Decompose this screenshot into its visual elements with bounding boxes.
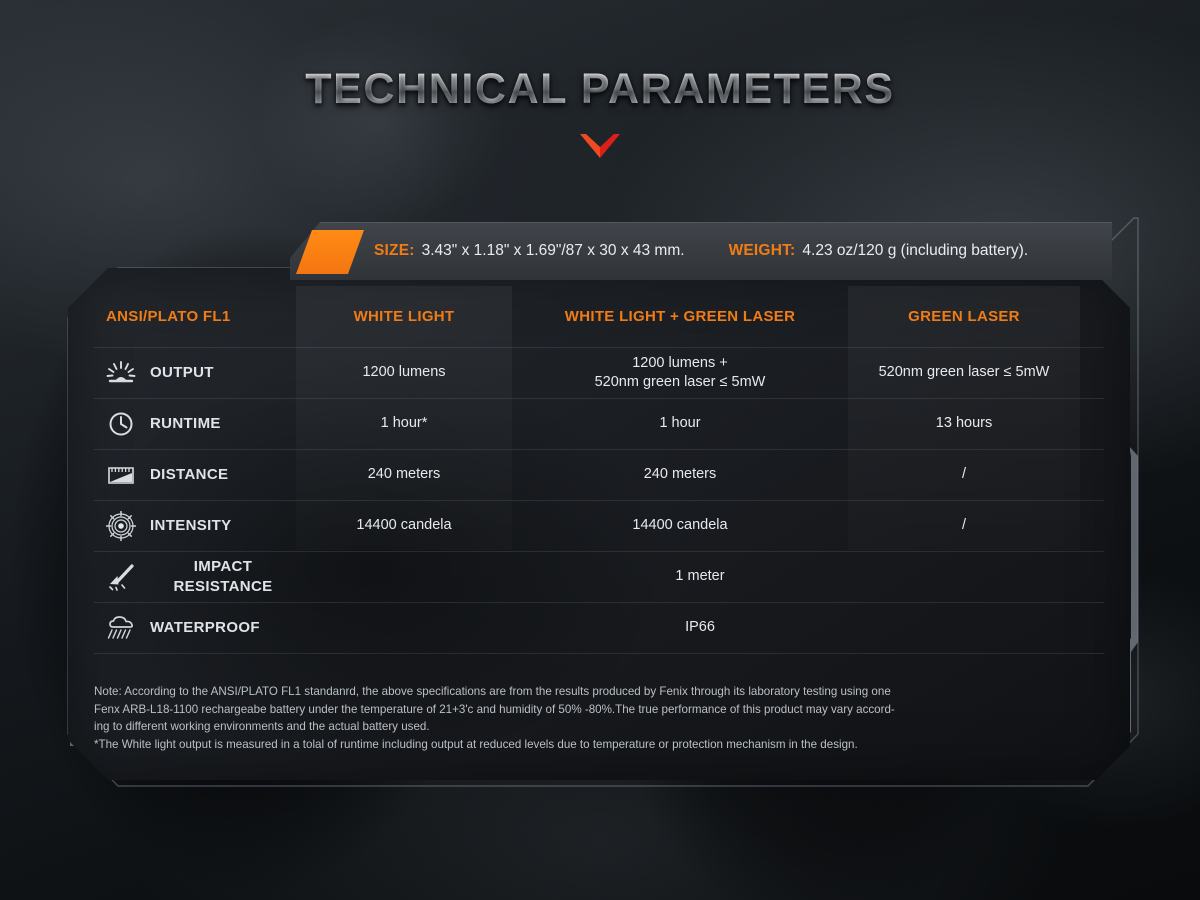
table-header-row: ANSI/PLATO FL1 WHITE LIGHT WHITE LIGHT +… (94, 286, 1104, 348)
table-row: OUTPUT 1200 lumens 1200 lumens + 520nm g… (94, 348, 1104, 399)
beam-distance-icon (98, 458, 144, 492)
size-value: 3.43" x 1.18" x 1.69"/87 x 30 x 43 mm. (422, 242, 685, 259)
cell-impact-resistance-value: 1 meter (296, 552, 1104, 602)
header-white-light: WHITE LIGHT (296, 286, 512, 347)
footnote-line-4: *The White light output is measured in a… (94, 736, 1098, 754)
chevron-down-icon (579, 133, 621, 159)
param-label: WATERPROOF (150, 618, 260, 638)
table-row: RUNTIME 1 hour* 1 hour 13 hours (94, 399, 1104, 450)
header-ansi-plato: ANSI/PLATO FL1 (94, 286, 296, 347)
clock-icon (98, 407, 144, 441)
footnote-line-3: ing to different working environments an… (94, 718, 1098, 736)
cell-output-white-light-green-laser: 1200 lumens + 520nm green laser ≤ 5mW (512, 348, 848, 398)
table-row: WATERPROOF IP66 (94, 603, 1104, 654)
cell-intensity-white-light: 14400 candela (296, 501, 512, 551)
cell-intensity-green-laser: / (848, 501, 1080, 551)
cell-runtime-green-laser: 13 hours (848, 399, 1080, 449)
weight-label: WEIGHT: (729, 242, 796, 259)
size-weight-strip: SIZE:3.43" x 1.18" x 1.69"/87 x 30 x 43 … (290, 222, 1112, 280)
row-label-cell: OUTPUT (94, 348, 296, 398)
weight-value: 4.23 oz/120 g (including battery). (802, 242, 1028, 259)
target-intensity-icon (98, 509, 144, 543)
param-label: IMPACT RESISTANCE (150, 557, 296, 597)
cell-line-2: 520nm green laser ≤ 5mW (595, 373, 766, 392)
cell-distance-white-light: 240 meters (296, 450, 512, 500)
size-label: SIZE: (374, 242, 415, 259)
param-label: RUNTIME (150, 414, 221, 434)
footnote-line-2: Fenx ARB-L18-1100 rechargeabe battery un… (94, 701, 1098, 719)
weight-spec: WEIGHT:4.23 oz/120 g (including battery)… (729, 242, 1029, 260)
spec-strip-text: SIZE:3.43" x 1.18" x 1.69"/87 x 30 x 43 … (374, 222, 1098, 280)
sunburst-icon (98, 356, 144, 390)
specifications-table: ANSI/PLATO FL1 WHITE LIGHT WHITE LIGHT +… (94, 286, 1104, 654)
header-white-light-green-laser: WHITE LIGHT + GREEN LASER (512, 286, 848, 347)
cell-intensity-white-light-green-laser: 14400 candela (512, 501, 848, 551)
param-label: INTENSITY (150, 516, 232, 536)
row-label-cell: IMPACT RESISTANCE (94, 552, 296, 602)
row-label-cell: RUNTIME (94, 399, 296, 449)
size-spec: SIZE:3.43" x 1.18" x 1.69"/87 x 30 x 43 … (374, 242, 685, 260)
param-label: OUTPUT (150, 363, 214, 383)
row-label-cell: DISTANCE (94, 450, 296, 500)
table-row: INTENSITY 14400 candela 14400 candela / (94, 501, 1104, 552)
cell-waterproof-value: IP66 (296, 603, 1104, 653)
title-block: TECHNICAL PARAMETERS (0, 68, 1200, 159)
cell-output-white-light: 1200 lumens (296, 348, 512, 398)
specifications-panel: ANSI/PLATO FL1 WHITE LIGHT WHITE LIGHT +… (68, 268, 1130, 780)
header-green-laser: GREEN LASER (848, 286, 1080, 347)
table-row: DISTANCE 240 meters 240 meters / (94, 450, 1104, 501)
cell-runtime-white-light: 1 hour* (296, 399, 512, 449)
row-label-cell: INTENSITY (94, 501, 296, 551)
impact-resistance-icon (98, 560, 144, 594)
page-title: TECHNICAL PARAMETERS (0, 68, 1200, 111)
row-label-cell: WATERPROOF (94, 603, 296, 653)
param-label: DISTANCE (150, 465, 228, 485)
cell-line-1: 1200 lumens + (595, 354, 766, 373)
footnote-block: Note: According to the ANSI/PLATO FL1 st… (94, 683, 1098, 753)
rain-cloud-icon (98, 611, 144, 645)
cell-distance-green-laser: / (848, 450, 1080, 500)
cell-distance-white-light-green-laser: 240 meters (512, 450, 848, 500)
footnote-line-1: Note: According to the ANSI/PLATO FL1 st… (94, 683, 1098, 701)
table-row: IMPACT RESISTANCE 1 meter (94, 552, 1104, 603)
cell-output-green-laser: 520nm green laser ≤ 5mW (848, 348, 1080, 398)
cell-runtime-white-light-green-laser: 1 hour (512, 399, 848, 449)
